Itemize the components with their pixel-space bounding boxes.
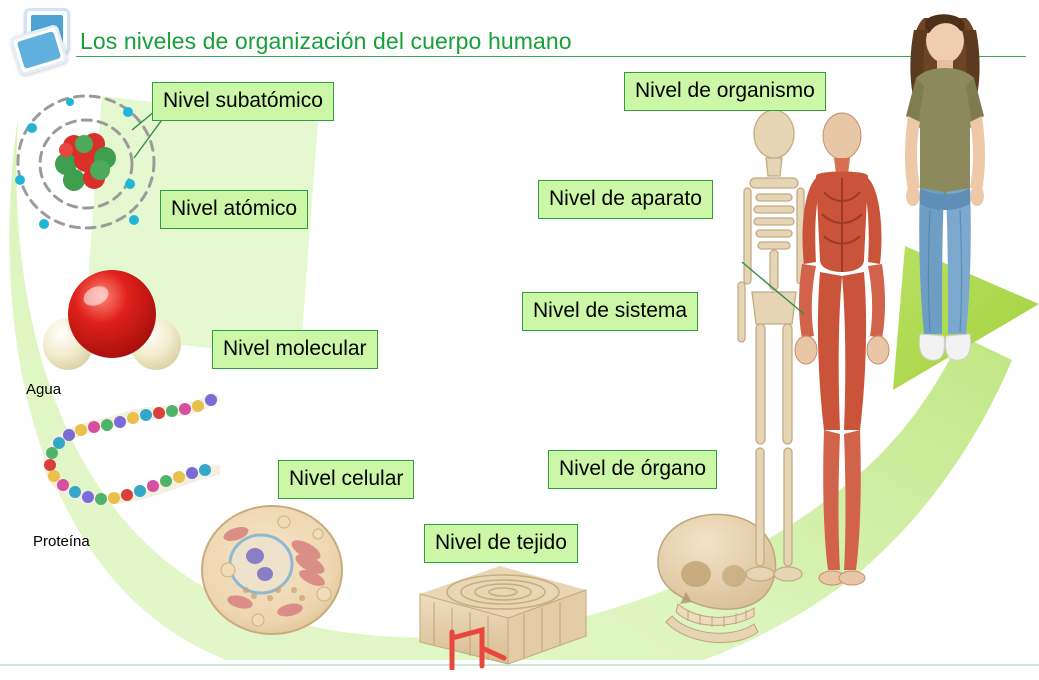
muscular-figure-icon <box>795 113 889 585</box>
chip-nivel-organo[interactable]: Nivel de órgano <box>548 450 717 489</box>
caption-proteina: Proteína <box>33 533 90 550</box>
person-photo <box>880 4 1010 374</box>
atom-icon <box>8 84 173 244</box>
chip-nivel-sistema[interactable]: Nivel de sistema <box>522 292 698 331</box>
slide-canvas: Los niveles de organización del cuerpo h… <box>0 0 1039 680</box>
page-title: Los niveles de organización del cuerpo h… <box>80 28 572 55</box>
chip-nivel-celular[interactable]: Nivel celular <box>278 460 414 499</box>
muscular-skeleton-figure <box>730 100 890 620</box>
slides-stack-icon <box>8 6 70 72</box>
chip-nivel-atomico[interactable]: Nivel atómico <box>160 190 308 229</box>
water-molecule-icon <box>38 258 188 383</box>
protein-chain-icon <box>35 392 220 527</box>
bone-tissue-icon <box>408 560 598 670</box>
chip-nivel-molecular[interactable]: Nivel molecular <box>212 330 378 369</box>
chip-nivel-tejido[interactable]: Nivel de tejido <box>424 524 578 563</box>
chip-nivel-aparato[interactable]: Nivel de aparato <box>538 180 713 219</box>
chip-nivel-subatomico[interactable]: Nivel subatómico <box>152 82 334 121</box>
chip-nivel-organismo[interactable]: Nivel de organismo <box>624 72 826 111</box>
animal-cell-icon <box>198 498 348 638</box>
caption-agua: Agua <box>26 381 61 398</box>
